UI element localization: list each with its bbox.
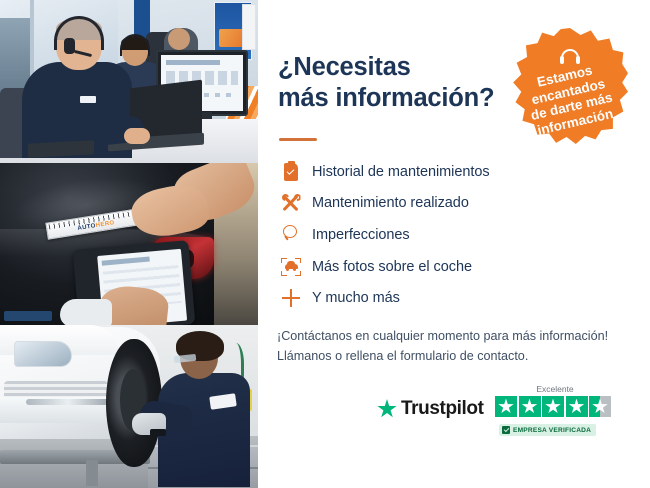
feature-label-mantenimiento: Mantenimiento realizado [306, 195, 469, 211]
photo-column: AUTOHERO [0, 0, 258, 488]
feature-label-mucho-mas: Y mucho más [306, 290, 400, 306]
verified-company-badge: EMPRESA VERIFICADA [499, 424, 596, 436]
floor-marking [4, 311, 52, 321]
clipboard-check-icon [276, 160, 306, 184]
bumper-chrome-trim [26, 399, 110, 405]
paragraph-line-2: Llámanos o rellena el formulario de cont… [277, 346, 637, 366]
agent-name-badge [80, 96, 96, 103]
headset-earpad-left [560, 56, 564, 64]
mechanic-wristwatch [150, 429, 166, 436]
info-badge: Estamos encantados de darte más informac… [506, 22, 634, 150]
contact-paragraph: ¡Contáctanos en cualquier momento para m… [277, 326, 637, 367]
headset-earpad-right [576, 56, 580, 64]
car-inspection-ruler-tablet-photo: AUTOHERO [0, 163, 258, 326]
title-divider [279, 138, 317, 141]
feature-item-mantenimiento: Mantenimiento realizado [276, 188, 636, 220]
verified-company-label: EMPRESA VERIFICADA [513, 427, 591, 434]
headline-line-1: ¿Necesitas [278, 53, 411, 81]
inspection-glove [60, 299, 112, 326]
paper-sheet [242, 4, 256, 50]
call-center-agent-headset-photo [0, 0, 258, 163]
car-headlight [14, 341, 72, 367]
star-2 [519, 396, 541, 417]
check-icon [502, 426, 510, 434]
star-5-half [589, 396, 611, 417]
feature-item-fotos: Más fotos sobre el coche [276, 251, 636, 283]
screen-header-bar [166, 60, 220, 65]
feature-item-mucho-mas: Y mucho más [276, 282, 636, 314]
headset-icon [561, 49, 579, 63]
feature-label-historial: Historial de mantenimientos [306, 164, 490, 180]
feature-item-historial: Historial de mantenimientos [276, 156, 636, 188]
trustpilot-rating-label: Excelente [495, 384, 615, 394]
promo-card: AUTOHERO [0, 0, 650, 488]
plus-icon [276, 286, 306, 310]
car-lift-leg [86, 460, 98, 486]
content-panel: ¿Necesitas más información? Estamos enca… [258, 0, 650, 488]
feature-list: Historial de mantenimientos Mantenimient… [276, 156, 636, 314]
trustpilot-widget[interactable]: Trustpilot Excelente EMPRESA VERIFICADA [377, 384, 627, 448]
tablet-screen-header [102, 256, 150, 265]
star-1 [495, 396, 517, 417]
page-title: ¿Necesitas más información? [278, 52, 528, 114]
feature-label-imperfecciones: Imperfecciones [306, 227, 410, 243]
headline-line-2: más información? [278, 83, 528, 114]
second-agent-headset-icon [120, 34, 150, 56]
star-4 [566, 396, 588, 417]
trustpilot-star-rating [495, 396, 611, 417]
car-photo-frame-icon [276, 255, 306, 279]
feature-item-imperfecciones: Imperfecciones [276, 219, 636, 251]
tools-cross-icon [276, 191, 306, 215]
paragraph-line-1: ¡Contáctanos en cualquier momento para m… [277, 326, 637, 346]
mechanic-wheel-inspection-photo [0, 325, 258, 488]
trustpilot-logo: Trustpilot [377, 398, 484, 420]
star-3 [542, 396, 564, 417]
agent-hand [124, 128, 150, 144]
feature-label-fotos: Más fotos sobre el coche [306, 259, 472, 275]
trustpilot-star-icon [377, 399, 397, 419]
trustpilot-wordmark: Trustpilot [401, 398, 484, 420]
background-person-head [168, 28, 190, 50]
magnifier-icon [276, 223, 306, 247]
